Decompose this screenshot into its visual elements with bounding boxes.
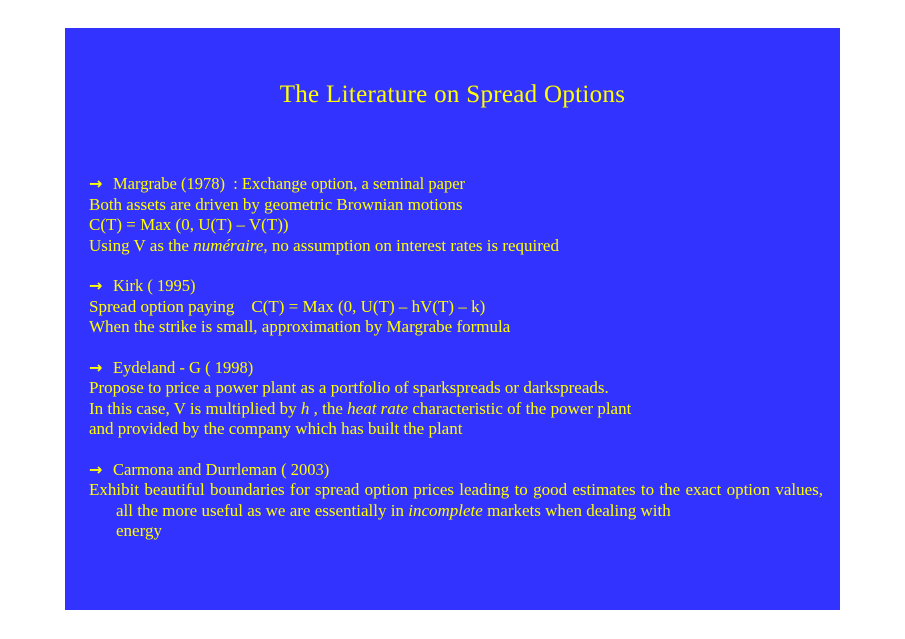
incomplete-italic-term: incomplete (408, 501, 483, 520)
reference-heading-text: Kirk ( 1995) (113, 276, 195, 295)
body-line: When the strike is small, approximation … (89, 317, 823, 338)
reference-heading-eydeland: →Eydeland - G ( 1998) (89, 358, 823, 379)
body-paragraph-tail: energy (89, 521, 823, 542)
heat-rate-italic-term: heat rate (347, 399, 408, 418)
reference-heading-text: Carmona and Durrleman ( 2003) (113, 460, 329, 479)
body-line-heat-rate: In this case, V is multiplied by h , the… (89, 399, 823, 420)
reference-heading-margrabe: →Margrabe (1978) : Exchange option, a se… (89, 174, 823, 195)
numeraire-text-after: , no assumption on interest rates is req… (263, 236, 559, 255)
page-title: The Literature on Spread Options (65, 80, 840, 110)
reference-heading-text: Eydeland - G ( 1998) (113, 358, 253, 377)
body-line-formula: C(T) = Max (0, U(T) – V(T)) (89, 215, 823, 236)
slide-body: →Margrabe (1978) : Exchange option, a se… (89, 174, 823, 542)
body-line-numeraire: Using V as the numéraire, no assumption … (89, 236, 823, 257)
reference-heading-text: Margrabe (1978) : Exchange option, a sem… (113, 174, 465, 193)
body-line-formula: Spread option paying C(T) = Max (0, U(T)… (89, 297, 823, 318)
reference-section-carmona: →Carmona and Durrleman ( 2003) Exhibit b… (89, 460, 823, 542)
slide-content-panel: The Literature on Spread Options →Margra… (65, 28, 840, 610)
numeraire-italic-term: numéraire (193, 236, 263, 255)
heat-rate-text-before: In this case, V is multiplied by (89, 399, 301, 418)
body-paragraph-justified: Exhibit beautiful boundaries for spread … (89, 480, 823, 521)
reference-section-kirk: →Kirk ( 1995) Spread option paying C(T) … (89, 276, 823, 338)
body-line: Both assets are driven by geometric Brow… (89, 195, 823, 216)
heat-rate-text-after: characteristic of the power plant (408, 399, 631, 418)
arrow-right-icon: → (89, 358, 113, 379)
reference-heading-kirk: →Kirk ( 1995) (89, 276, 823, 297)
arrow-right-icon: → (89, 276, 113, 297)
arrow-right-icon: → (89, 460, 113, 481)
body-line: Propose to price a power plant as a port… (89, 378, 823, 399)
slide-canvas: The Literature on Spread Options →Margra… (0, 0, 905, 639)
numeraire-text-before: Using V as the (89, 236, 193, 255)
arrow-right-icon: → (89, 174, 113, 195)
body-line: and provided by the company which has bu… (89, 419, 823, 440)
heat-rate-text-middle: , the (309, 399, 347, 418)
reference-heading-carmona: →Carmona and Durrleman ( 2003) (89, 460, 823, 481)
reference-section-eydeland: →Eydeland - G ( 1998) Propose to price a… (89, 358, 823, 440)
reference-section-margrabe: →Margrabe (1978) : Exchange option, a se… (89, 174, 823, 256)
paragraph-text-after: markets when dealing with (483, 501, 671, 520)
